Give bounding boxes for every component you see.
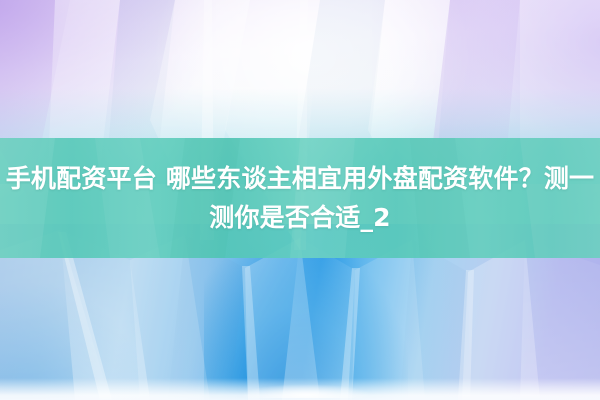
headline-band: 手机配资平台 哪些东谈主相宜用外盘配资软件？测 一测你是否合适_2	[0, 138, 600, 258]
headline-line-1: 手机配资平台 哪些东谈主相宜用外盘配资软件？测	[6, 164, 569, 193]
banner-image: 手机配资平台 哪些东谈主相宜用外盘配资软件？测 一测你是否合适_2	[0, 0, 600, 400]
bottom-glow-spot	[240, 384, 372, 398]
page-title: 手机配资平台 哪些东谈主相宜用外盘配资软件？测 一测你是否合适_2	[0, 159, 600, 237]
